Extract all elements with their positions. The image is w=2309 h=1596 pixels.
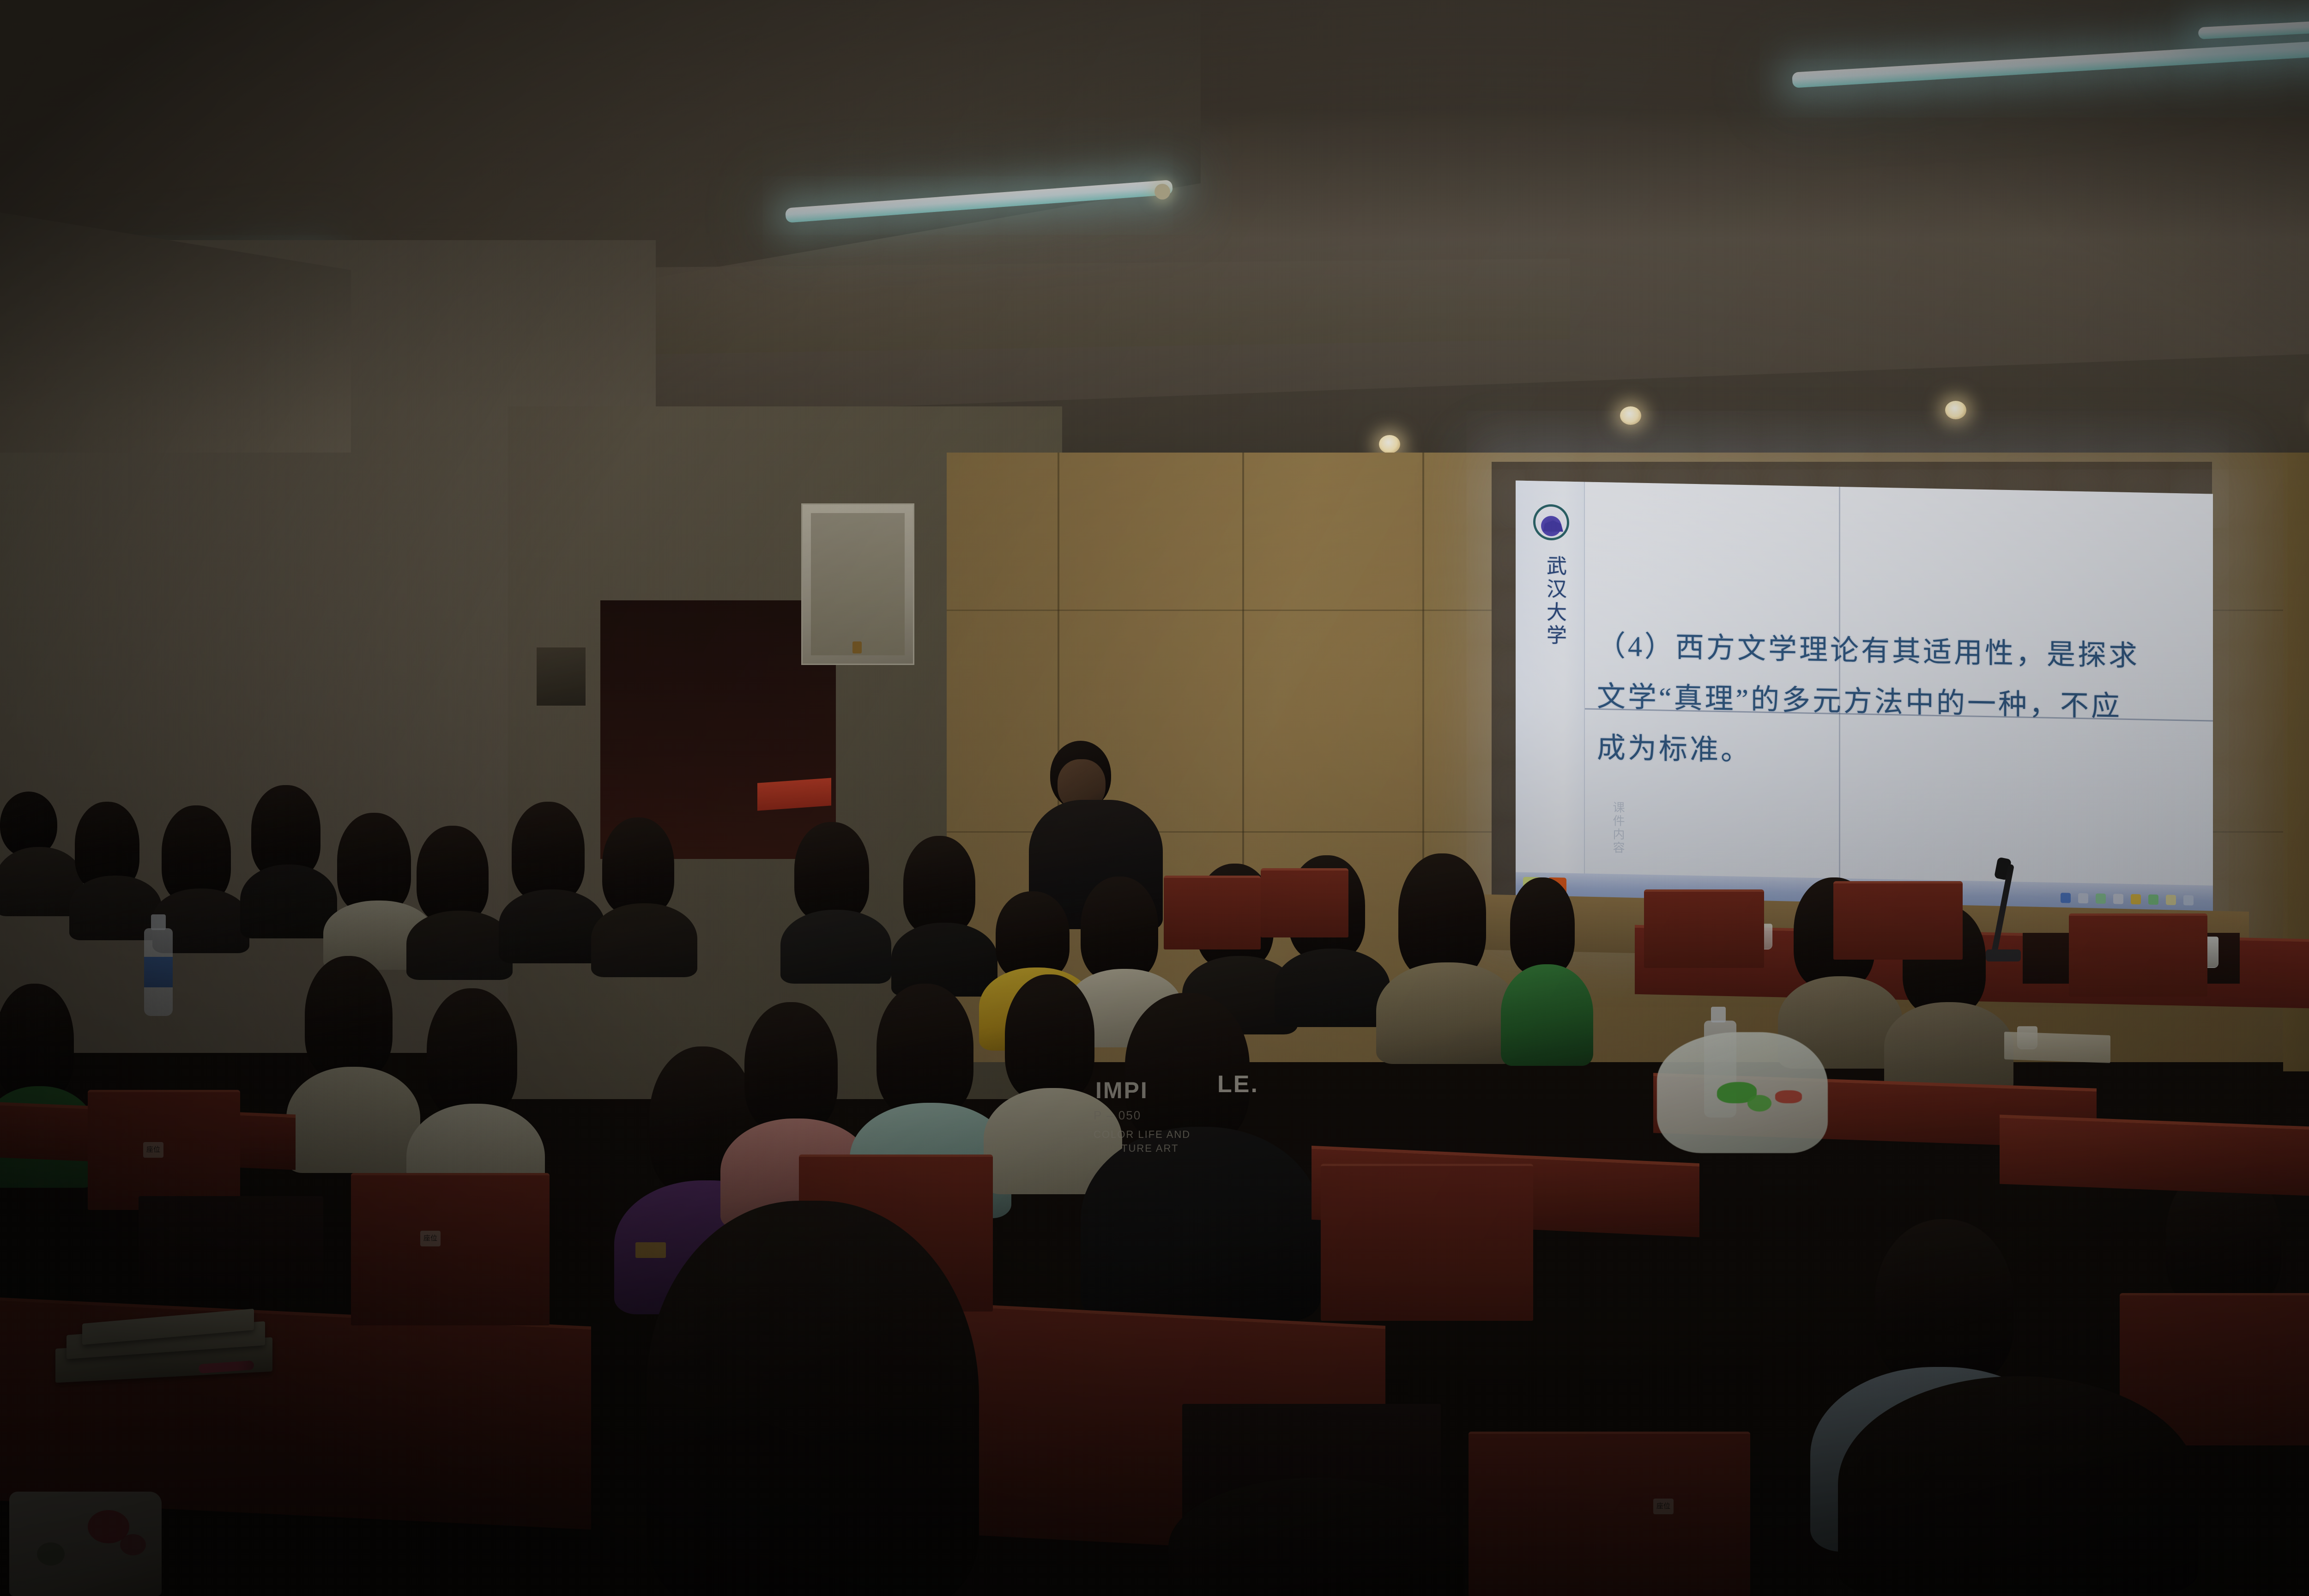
projection-screen[interactable]: 武汉大学 （4）西方文学理论有其适用性，是探求 文学“真理”的多元方法中的一种，… [1516, 481, 2213, 924]
auditorium-chair[interactable] [1321, 1164, 1533, 1321]
tube-light-endcap [1154, 184, 1170, 199]
backpack-pattern [120, 1534, 146, 1555]
water-bottle-blue-label[interactable] [144, 928, 173, 1016]
audience-member [69, 802, 162, 922]
foreground-student [647, 1201, 988, 1596]
input-method-icon[interactable] [2131, 894, 2141, 904]
torso [591, 903, 697, 977]
wall-speaker [801, 503, 914, 665]
hoodie-text-line3: P – 050 [1094, 1108, 1141, 1123]
speaker-grill [811, 513, 905, 655]
audience-member [780, 822, 891, 979]
battery-icon[interactable] [2113, 894, 2123, 904]
audience-member [152, 805, 249, 944]
hair [1081, 877, 1158, 980]
chair-seat-pad [139, 1196, 323, 1288]
torso [1501, 964, 1593, 1066]
torso [780, 910, 891, 984]
hoodie-text-line5: TURE ART [1121, 1143, 1179, 1155]
bag-print-green [1747, 1095, 1771, 1112]
foreground-student [1168, 1478, 1464, 1596]
hair [337, 813, 411, 912]
wuhan-university-emblem-icon [1533, 504, 1569, 540]
speaker-mount-screw [852, 641, 862, 653]
taskbar-tray[interactable] [2061, 893, 2201, 906]
recessed-downlight [1620, 406, 1641, 425]
recessed-downlight [1379, 435, 1400, 453]
torso [406, 911, 513, 980]
seat-number-tag: 座位 [143, 1142, 163, 1158]
hair [744, 1002, 838, 1131]
hair [996, 891, 1070, 979]
torso [240, 864, 337, 938]
audience-member [591, 817, 697, 970]
chat-icon[interactable] [2183, 895, 2194, 905]
black-graphic-hoodie-student: IMPI LE. P – 050 COLOR LIFE AND TURE ART [1081, 993, 1321, 1316]
hair [876, 984, 973, 1116]
hair [1875, 1219, 2013, 1385]
hoodie-text-line2: LE. [1217, 1070, 1259, 1098]
auditorium-chair[interactable] [2069, 913, 2207, 997]
audience-member [286, 956, 420, 1168]
torso [1376, 962, 1519, 1064]
auditorium-chair[interactable] [1833, 881, 1963, 960]
torso [1884, 1002, 2013, 1094]
auditorium-chair[interactable]: 座位 [88, 1090, 240, 1210]
audience-member [406, 826, 513, 973]
network-icon[interactable] [2061, 893, 2071, 903]
hair [1168, 1478, 1464, 1596]
recessed-downlight [1945, 401, 1966, 419]
floral-backpack[interactable] [9, 1492, 162, 1596]
torso [1081, 1127, 1321, 1321]
green-shirt-student [1501, 877, 1593, 1062]
student-desk [2000, 1115, 2309, 1199]
torso [499, 889, 605, 963]
hair [305, 956, 393, 1079]
volume-icon[interactable] [2096, 894, 2106, 904]
hair [251, 785, 320, 877]
seat-number-tag: 座位 [420, 1231, 441, 1246]
plastic-shopping-bag[interactable] [1657, 1032, 1828, 1153]
institution-name: 武汉大学 [1536, 555, 1566, 647]
papers-on-desk[interactable] [2004, 1032, 2110, 1063]
hair [427, 988, 517, 1118]
slide-sidebar: 武汉大学 [1516, 481, 1585, 912]
hair [0, 984, 74, 1099]
hair [417, 826, 489, 922]
hair [647, 1201, 979, 1596]
foreground-student [1838, 1376, 2198, 1596]
slide-text: （4）西方文学理论有其适用性，是探求 文学“真理”的多元方法中的一种，不应 成为… [1597, 621, 2194, 785]
hair [1398, 853, 1486, 978]
wall-access-plate [536, 647, 586, 707]
sync-icon[interactable] [2148, 895, 2158, 905]
bottle-label [144, 957, 173, 987]
audience-member [499, 802, 605, 954]
khaki-jacket-student [1376, 853, 1519, 1057]
book-stack[interactable] [55, 1316, 286, 1390]
audience-member [240, 785, 337, 933]
auditorium-chair[interactable] [1261, 868, 1348, 937]
antivirus-icon[interactable] [2166, 895, 2176, 905]
bag-print-red [1775, 1090, 1802, 1103]
auditorium-chair[interactable] [1164, 876, 1261, 949]
seat-number-tag: 座位 [1653, 1499, 1674, 1514]
torso [286, 1067, 420, 1173]
auditorium-chair[interactable] [1644, 889, 1764, 968]
hair [512, 802, 585, 901]
hair [1125, 993, 1250, 1145]
lecture-hall-photo: 武汉大学 （4）西方文学理论有其适用性，是探求 文学“真理”的多元方法中的一种，… [0, 0, 2309, 1596]
auditorium-chair[interactable]: 座位 [1469, 1432, 1750, 1596]
shield-icon[interactable] [2078, 893, 2088, 903]
hoodie-text-line4: COLOR LIFE AND [1094, 1129, 1191, 1141]
hair [794, 822, 869, 921]
hair [1510, 877, 1575, 974]
hair [602, 817, 674, 914]
auditorium-chair[interactable]: 座位 [351, 1173, 550, 1325]
hair [1838, 1376, 2198, 1593]
hair [162, 805, 231, 902]
hair [903, 836, 975, 934]
hoodie-text-line1: IMPI [1095, 1077, 1148, 1104]
backpack-pattern [37, 1542, 65, 1566]
red-banner [757, 778, 831, 810]
slide-faint-note: 课件内容 [1608, 801, 1626, 855]
